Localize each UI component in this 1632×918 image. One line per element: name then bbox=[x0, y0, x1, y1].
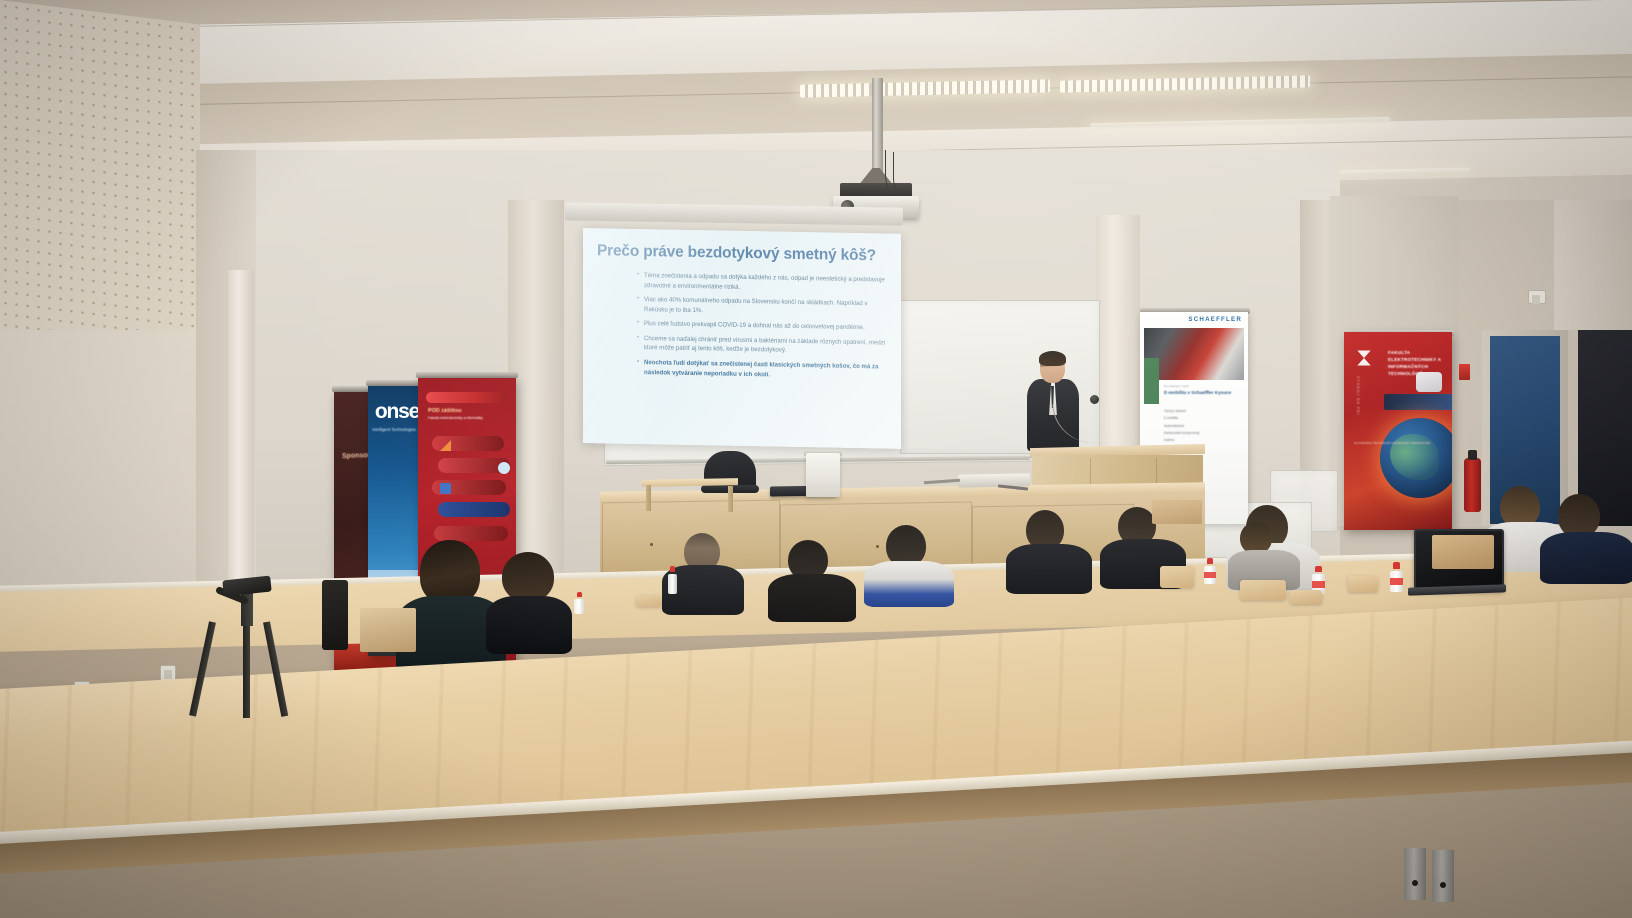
waste-bin bbox=[806, 453, 840, 497]
water-bottle[interactable] bbox=[574, 592, 584, 614]
bench-surface bbox=[642, 478, 738, 487]
cardboard-box bbox=[360, 608, 416, 652]
slide-bullet-list: Téma znečistenia a odpadu sa dotýka každ… bbox=[597, 271, 889, 382]
cardboard-box bbox=[1432, 535, 1494, 569]
cardboard-box bbox=[1152, 500, 1202, 524]
snack-bag[interactable] bbox=[1290, 590, 1322, 604]
schaeffler-bullet-list: Vývoj a výskum E-mobilita Automatizácia … bbox=[1164, 408, 1200, 445]
schaeffler-bullet: Vývoj a výskum bbox=[1164, 408, 1200, 415]
presenter-hair bbox=[1039, 351, 1066, 366]
slide-title: Prečo práve bezdotykový smetný kôš? bbox=[597, 242, 889, 266]
schaeffler-headline: E-mobilita v Schaeffler Kysuce bbox=[1164, 390, 1231, 395]
schaeffler-bullet: E-mobilita bbox=[1164, 415, 1200, 422]
slide-bullet: Viac ako 40% komunálneho odpadu na Slove… bbox=[637, 295, 889, 318]
stu-logo-icon bbox=[1354, 348, 1374, 368]
audience-torso bbox=[1540, 532, 1632, 584]
snack-bag[interactable] bbox=[636, 595, 662, 607]
tripod-head bbox=[222, 576, 271, 597]
audience-torso bbox=[768, 574, 856, 622]
schaeffler-bullet: Elektronické komponenty bbox=[1164, 430, 1200, 437]
bottle-cap bbox=[577, 592, 582, 597]
bottle-label bbox=[1312, 581, 1325, 588]
slide-bullet: Téma znečistenia a odpadu sa dotýka každ… bbox=[637, 271, 889, 294]
bottle-body bbox=[574, 599, 584, 614]
audience-head bbox=[502, 552, 554, 602]
bottle-cap bbox=[1315, 566, 1322, 572]
schaeffler-wordmark: SCHAEFFLER bbox=[1140, 312, 1248, 323]
schaeffler-bullet: Automatizácia bbox=[1164, 423, 1200, 430]
fire-extinguisher bbox=[1464, 458, 1481, 512]
projector-mount-pole bbox=[872, 78, 883, 174]
audience-torso bbox=[1006, 544, 1092, 594]
audience-torso bbox=[864, 561, 954, 607]
red-banner-icon-square bbox=[440, 483, 451, 494]
bottle-cap bbox=[1393, 562, 1400, 569]
fei-vertical-text: STUDUJ NA FEI bbox=[1356, 376, 1360, 416]
schaeffler-kicker: Kto pracuje s nami bbox=[1164, 384, 1189, 388]
desk-leg bbox=[1404, 848, 1426, 900]
snack-bag[interactable] bbox=[1348, 576, 1378, 592]
lecture-hall-photo: Prečo práve bezdotykový smetný kôš? Téma… bbox=[0, 0, 1632, 918]
fei-globe-graphic bbox=[1380, 418, 1452, 498]
fei-dark-strip bbox=[1384, 394, 1452, 410]
red-banner-icon-circle bbox=[498, 462, 510, 474]
desk-leg-bolt bbox=[1412, 880, 1418, 886]
red-banner-header-bar bbox=[426, 392, 508, 403]
bench-leg bbox=[646, 485, 651, 511]
bottle-cap bbox=[1207, 558, 1213, 564]
projector-cable bbox=[893, 152, 924, 196]
fei-university-label: SLOVENSKÁ TECHNICKÁ UNIVERZITA V BRATISL… bbox=[1354, 440, 1430, 448]
snack-bag[interactable] bbox=[1240, 580, 1286, 600]
schaeffler-product-photo bbox=[1144, 328, 1244, 380]
tripod-leg bbox=[263, 621, 288, 717]
fei-badge bbox=[1416, 372, 1442, 392]
right-wall-far bbox=[1554, 200, 1632, 330]
desk-knob bbox=[650, 543, 653, 546]
desk-leg-bolt bbox=[1440, 882, 1446, 888]
red-banner-subhead: Fakulta elektrotechniky a informatiky bbox=[428, 416, 508, 421]
equipment-case bbox=[322, 580, 348, 650]
red-banner-pill bbox=[434, 526, 508, 541]
bottle-label bbox=[1390, 578, 1403, 586]
microphone-head bbox=[1090, 395, 1099, 404]
slide-bullet: Plus celé ľudstvo prekvapil COVID-19 a d… bbox=[637, 319, 889, 333]
control-panel[interactable] bbox=[958, 473, 1030, 487]
desk-leg bbox=[1432, 850, 1454, 902]
bottle-cap bbox=[670, 566, 675, 572]
small-bench bbox=[642, 479, 738, 512]
wall-socket bbox=[1528, 290, 1546, 304]
snack-bag[interactable] bbox=[1160, 566, 1194, 588]
slide-bullet-emphasized: Neochota ľudí dotýkať sa znečistenej čas… bbox=[637, 358, 889, 381]
tripod-leg bbox=[243, 622, 250, 718]
presentation-slide: Prečo práve bezdotykový smetný kôš? Téma… bbox=[583, 228, 901, 449]
bottle-label bbox=[1204, 572, 1216, 579]
water-bottle[interactable] bbox=[668, 566, 677, 594]
red-banner-pill-blue bbox=[438, 502, 510, 517]
banner-fei: FAKULTA ELEKTROTECHNIKY A INFORMAČNÝCH T… bbox=[1344, 332, 1452, 530]
bottle-body bbox=[668, 574, 677, 594]
camera-tripod[interactable] bbox=[205, 578, 293, 718]
emergency-sign bbox=[1459, 364, 1470, 380]
desk-knob bbox=[876, 545, 879, 548]
slide-bullet: Chceme sa naďalej chrániť pred vírusmi a… bbox=[637, 334, 889, 357]
water-bottle[interactable] bbox=[1390, 562, 1403, 592]
audience-head bbox=[420, 540, 480, 604]
schaeffler-green-accent bbox=[1144, 358, 1159, 404]
bench-leg bbox=[728, 486, 733, 512]
fire-extinguisher-handle bbox=[1468, 450, 1477, 460]
water-bottle[interactable] bbox=[1204, 558, 1216, 584]
audience-torso bbox=[486, 596, 572, 654]
red-banner-headline: POD záštitou bbox=[428, 408, 462, 414]
